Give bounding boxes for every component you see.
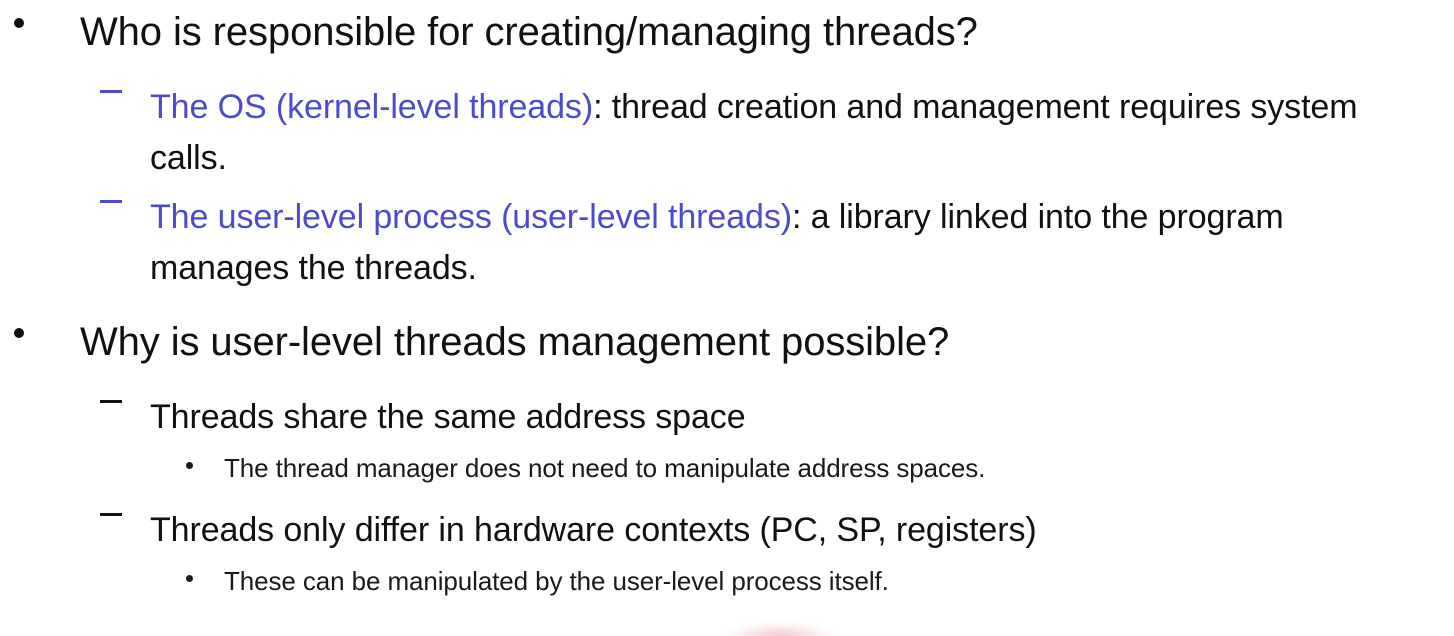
bullet-level3-thread-manager-text: The thread manager does not need to mani… bbox=[224, 452, 1454, 485]
bullet-level2-user-level-process-text: The user-level process (user-level threa… bbox=[150, 192, 1414, 294]
bullet-level3-these-manipulated: These can be manipulated by the user-lev… bbox=[0, 565, 1454, 598]
bullet-dash-icon bbox=[100, 200, 122, 203]
bullet-dash-icon bbox=[100, 513, 122, 516]
bullet-level2-threads-hardware-contexts: Threads only differ in hardware contexts… bbox=[0, 505, 1454, 556]
bullet-dash-icon bbox=[100, 400, 122, 403]
bullet-dash-icon bbox=[100, 90, 122, 93]
bullet-level1-responsible-text: Who is responsible for creating/managing… bbox=[80, 8, 1454, 56]
bullet-level2-threads-share-address-space-text: Threads share the same address space bbox=[150, 392, 1414, 443]
slide-canvas: Who is responsible for creating/managing… bbox=[0, 0, 1454, 636]
bullet-dot-small-icon bbox=[186, 462, 193, 469]
bullet-level3-thread-manager: The thread manager does not need to mani… bbox=[0, 452, 1454, 485]
bullet-level1-why-possible: Why is user-level threads management pos… bbox=[0, 318, 1454, 366]
bullet-level2-os-kernel-threads-text: The OS (kernel-level threads): thread cr… bbox=[150, 82, 1414, 184]
bullet-level2-threads-share-address-space: Threads share the same address space bbox=[0, 392, 1454, 443]
bullet-level3-these-manipulated-text: These can be manipulated by the user-lev… bbox=[224, 565, 1454, 598]
bottom-edge-artifact bbox=[725, 624, 835, 636]
bullet-dot-small-icon bbox=[186, 575, 193, 582]
highlight-os-kernel-threads: The OS (kernel-level threads) bbox=[150, 88, 593, 126]
bullet-level1-responsible: Who is responsible for creating/managing… bbox=[0, 8, 1454, 56]
bullet-level1-why-possible-text: Why is user-level threads management pos… bbox=[80, 318, 1454, 366]
highlight-user-level-process: The user-level process (user-level threa… bbox=[150, 198, 792, 236]
bullet-dot-icon bbox=[14, 18, 24, 28]
bullet-level2-threads-hardware-contexts-text: Threads only differ in hardware contexts… bbox=[150, 505, 1414, 556]
bullet-dot-icon bbox=[14, 328, 24, 338]
bullet-level2-user-level-process: The user-level process (user-level threa… bbox=[0, 192, 1454, 294]
bullet-level2-os-kernel-threads: The OS (kernel-level threads): thread cr… bbox=[0, 82, 1454, 184]
